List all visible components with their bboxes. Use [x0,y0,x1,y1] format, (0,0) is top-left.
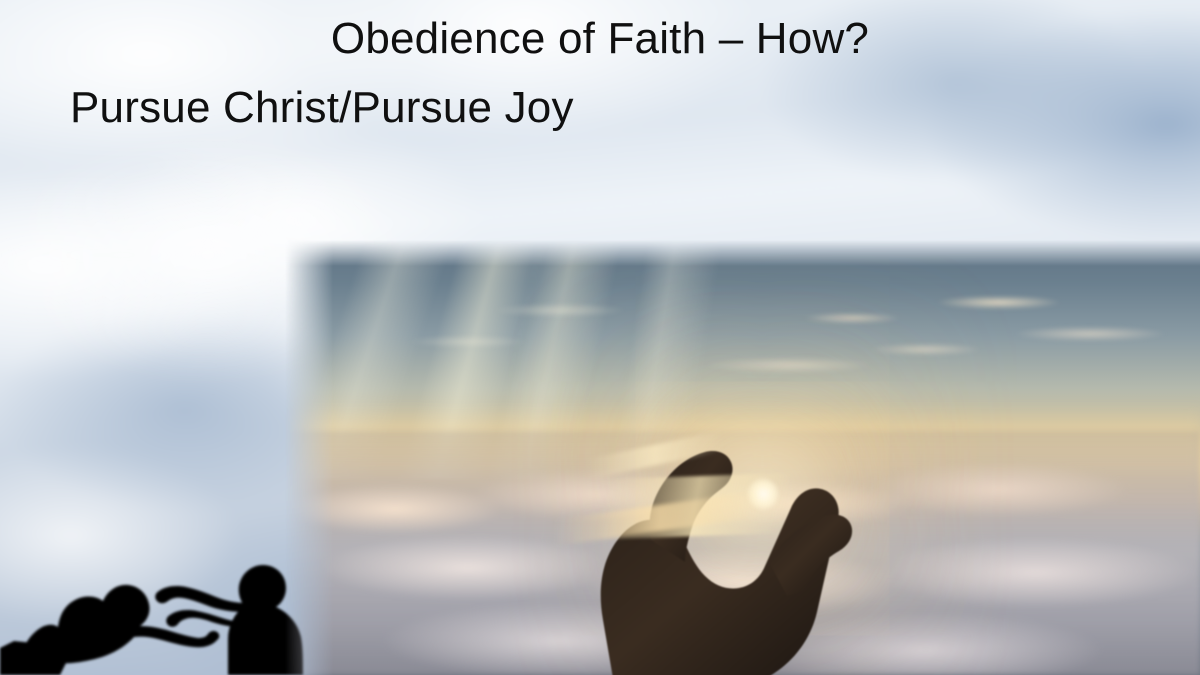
slide-title: Obedience of Faith – How? [0,14,1200,64]
presentation-slide: Obedience of Faith – How? Pursue Christ/… [0,0,1200,675]
hand-reaching-for-sun-photo [285,240,1200,675]
slide-subtitle: Pursue Christ/Pursue Joy [70,83,574,133]
child-leaping-to-adult-silhouette [0,500,320,675]
